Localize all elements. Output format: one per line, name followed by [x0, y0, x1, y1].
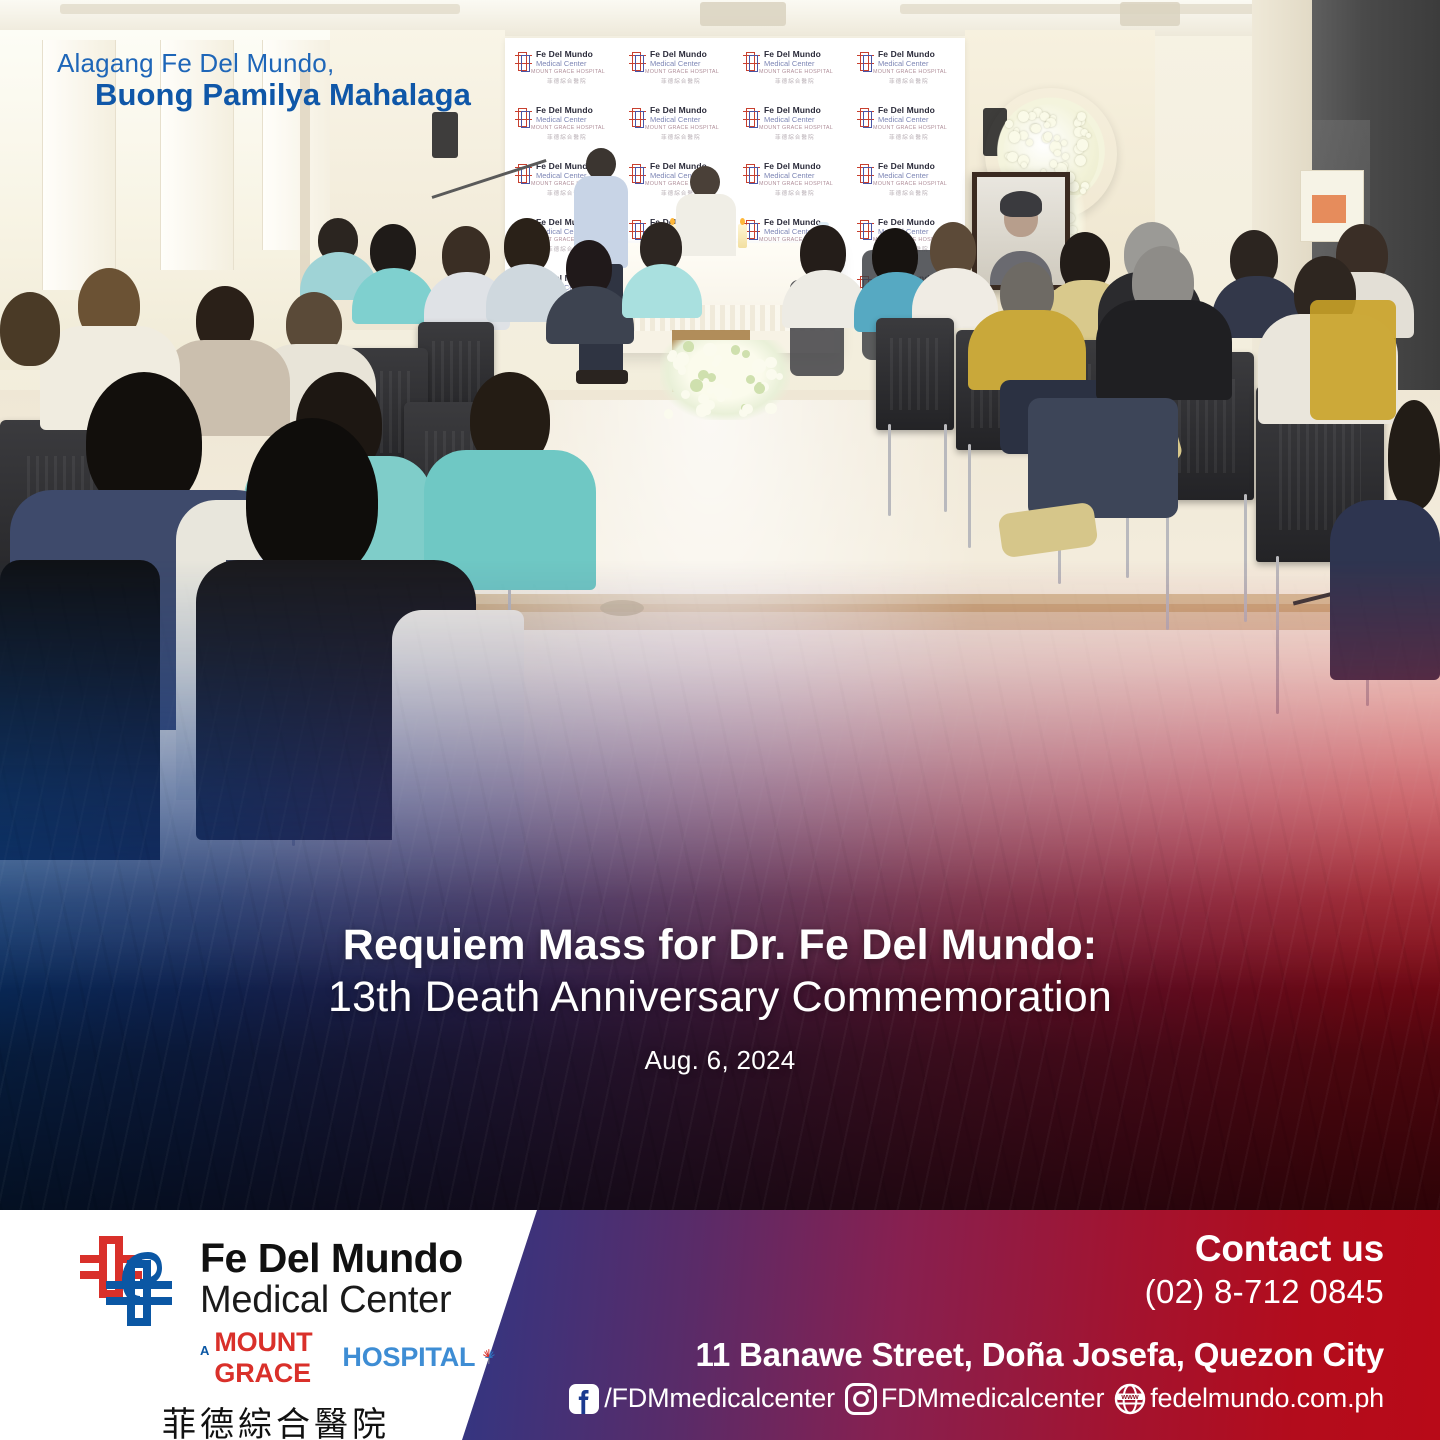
wreath-blossom — [1044, 132, 1053, 141]
backdrop-logo-tile: Fe Del Mundo Medical Center MOUNT GRACE … — [627, 102, 731, 160]
backdrop-name: Fe Del Mundo — [878, 49, 935, 59]
backdrop-logo-tile: Fe Del Mundo Medical Center MOUNT GRACE … — [741, 102, 845, 160]
altar-blossom — [765, 403, 777, 415]
backdrop-chinese: 菲德綜合醫院 — [547, 133, 587, 141]
backdrop-sub: Medical Center — [878, 115, 928, 124]
backdrop-chinese: 菲德綜合醫院 — [889, 189, 929, 197]
backdrop-mountgrace: MOUNT GRACE HOSPITAL — [759, 69, 833, 75]
chair-leg — [888, 424, 891, 516]
mount-grace-tree-icon — [480, 1341, 498, 1371]
social-links: /FDMmedicalcenter FDMmedicalcenter — [624, 1382, 1384, 1416]
contact-address: 11 Banawe Street, Doña Josefa, Quezon Ci… — [624, 1336, 1384, 1374]
backdrop-chinese: 菲德綜合醫院 — [661, 77, 701, 85]
double-cross-leaf-icon — [78, 1234, 186, 1339]
altar-blossom — [674, 358, 681, 365]
globe-www-icon[interactable]: www — [1113, 1382, 1147, 1416]
altar-blossom — [664, 409, 674, 419]
wall-speaker — [432, 112, 458, 158]
backdrop-chinese: 菲德綜合醫院 — [775, 77, 815, 85]
handbag — [1310, 300, 1396, 420]
svg-text:www: www — [1121, 1392, 1139, 1401]
ceiling-vent — [700, 2, 786, 26]
social-facebook[interactable]: /FDMmedicalcenter — [567, 1382, 835, 1416]
backdrop-cross-icon — [857, 220, 874, 237]
tagline-line1: Alagang Fe Del Mundo, — [57, 50, 471, 76]
instagram-handle[interactable]: FDMmedicalcenter — [881, 1383, 1104, 1414]
backdrop-cross-icon — [743, 164, 760, 181]
logo-name-line2: Medical Center — [200, 1281, 498, 1321]
wreath-blossom — [1061, 140, 1067, 146]
audience-head-foreground — [246, 418, 378, 582]
backdrop-cross-icon — [629, 108, 646, 125]
backdrop-sub: Medical Center — [536, 115, 586, 124]
backdrop-cross-icon — [857, 52, 874, 69]
wreath-blossom — [1021, 162, 1028, 169]
audience-head-foreground — [1388, 400, 1440, 510]
backdrop-cross-icon — [515, 52, 532, 69]
backdrop-name: Fe Del Mundo — [878, 105, 935, 115]
event-date: Aug. 6, 2024 — [0, 1045, 1440, 1076]
backdrop-logo-tile: Fe Del Mundo Medical Center MOUNT GRACE … — [855, 46, 959, 104]
footer: Fe Del Mundo Medical Center A MOUNT GRAC… — [0, 1210, 1440, 1440]
backdrop-name: Fe Del Mundo — [536, 49, 593, 59]
wreath-blossom — [1075, 155, 1086, 166]
altar-blossom — [683, 341, 694, 352]
backdrop-name: Fe Del Mundo — [878, 217, 935, 227]
backdrop-logo-tile: Fe Del Mundo Medical Center MOUNT GRACE … — [855, 158, 959, 216]
audience-head — [0, 292, 60, 366]
backdrop-name: Fe Del Mundo — [650, 105, 707, 115]
backdrop-sub: Medical Center — [650, 59, 700, 68]
backdrop-mountgrace: MOUNT GRACE HOSPITAL — [645, 125, 719, 131]
backdrop-sub: Medical Center — [764, 171, 814, 180]
logo-chinese: 菲德綜合醫院 — [162, 1397, 498, 1440]
officiant-right — [676, 166, 736, 256]
backdrop-sub: Medical Center — [878, 171, 928, 180]
backdrop-chinese: 菲德綜合醫院 — [889, 133, 929, 141]
backdrop-cross-icon — [515, 108, 532, 125]
backdrop-mountgrace: MOUNT GRACE HOSPITAL — [531, 69, 605, 75]
altar-blossom — [703, 378, 709, 384]
website-handle[interactable]: fedelmundo.com.ph — [1150, 1383, 1384, 1414]
wreath-blossom — [1028, 112, 1036, 120]
wreath-blossom — [1044, 122, 1050, 128]
event-title-line1: Requiem Mass for Dr. Fe Del Mundo: — [0, 920, 1440, 971]
altar-blossom — [742, 350, 751, 359]
wreath-blossom — [1054, 150, 1060, 156]
backdrop-chinese: 菲德綜合醫院 — [547, 77, 587, 85]
facebook-icon[interactable] — [567, 1382, 601, 1416]
event-title-line2: 13th Death Anniversary Commemoration — [0, 971, 1440, 1023]
hospital-logo: Fe Del Mundo Medical Center A MOUNT GRAC… — [78, 1232, 498, 1440]
backdrop-mountgrace: MOUNT GRACE HOSPITAL — [531, 125, 605, 131]
altar-blossom — [696, 404, 709, 417]
altar-blossom — [746, 375, 755, 384]
backdrop-mountgrace: MOUNT GRACE HOSPITAL — [873, 125, 947, 131]
wreath-blossom — [1031, 124, 1040, 133]
backdrop-sub: Medical Center — [650, 115, 700, 124]
altar-blossom — [681, 390, 690, 399]
logo-hospital: HOSPITAL — [342, 1342, 475, 1373]
altar-blossom — [703, 343, 717, 357]
altar-blossom — [713, 384, 726, 397]
wreath-blossom — [1077, 139, 1089, 151]
social-instagram[interactable]: FDMmedicalcenter — [844, 1382, 1104, 1416]
facebook-handle[interactable]: /FDMmedicalcenter — [604, 1383, 835, 1414]
backdrop-logo-tile: Fe Del Mundo Medical Center MOUNT GRACE … — [627, 46, 731, 104]
contact-phone[interactable]: (02) 8-712 0845 — [624, 1273, 1384, 1311]
chair-leg — [968, 444, 971, 548]
backdrop-chinese: 菲德綜合醫院 — [775, 133, 815, 141]
audience-shoulders — [968, 310, 1086, 390]
backdrop-name: Fe Del Mundo — [650, 49, 707, 59]
chair-leg — [944, 424, 947, 512]
backdrop-cross-icon — [857, 164, 874, 181]
wreath-blossom — [1007, 152, 1018, 163]
backdrop-logo-tile: Fe Del Mundo Medical Center MOUNT GRACE … — [513, 46, 617, 104]
wreath-blossom — [1054, 135, 1060, 141]
backdrop-name: Fe Del Mundo — [536, 105, 593, 115]
backdrop-cross-icon — [857, 108, 874, 125]
backdrop-chinese: 菲德綜合醫院 — [889, 77, 929, 85]
backdrop-name: Fe Del Mundo — [878, 161, 935, 171]
wreath-blossom — [1080, 188, 1086, 194]
altar-blossom — [752, 359, 765, 372]
leaf-e-icon — [118, 1248, 162, 1308]
backdrop-chinese: 菲德綜合醫院 — [775, 189, 815, 197]
backdrop-cross-icon — [629, 164, 646, 181]
backdrop-cross-icon — [743, 108, 760, 125]
logo-a: A — [200, 1343, 209, 1358]
backdrop-cross-icon — [743, 52, 760, 69]
backdrop-sub: Medical Center — [878, 59, 928, 68]
contact-block: Contact us (02) 8-712 0845 11 Banawe Str… — [624, 1230, 1384, 1416]
backdrop-logo-tile: Fe Del Mundo Medical Center MOUNT GRACE … — [741, 158, 845, 216]
backdrop-mountgrace: MOUNT GRACE HOSPITAL — [873, 181, 947, 187]
ceiling-strip — [60, 4, 460, 14]
candle — [738, 224, 747, 248]
backdrop-sub: Medical Center — [764, 59, 814, 68]
wreath-blossom — [1062, 153, 1069, 160]
backdrop-mountgrace: MOUNT GRACE HOSPITAL — [873, 69, 947, 75]
ceiling-vent — [1120, 2, 1180, 26]
altar-blossom — [765, 357, 777, 369]
wreath-blossom — [1086, 133, 1092, 139]
backdrop-logo-tile: Fe Del Mundo Medical Center MOUNT GRACE … — [855, 102, 959, 160]
tagline-line2: Buong Pamilya Mahalaga — [95, 79, 471, 110]
backdrop-sub: Medical Center — [536, 59, 586, 68]
wreath-blossom — [1009, 131, 1020, 142]
altar-blossom — [742, 404, 753, 415]
wreath-blossom — [1005, 120, 1013, 128]
backdrop-sub: Medical Center — [764, 115, 814, 124]
altar-blossom — [712, 360, 719, 367]
instagram-icon[interactable] — [844, 1382, 878, 1416]
chair — [876, 318, 954, 430]
backdrop-cross-icon — [629, 52, 646, 69]
altar-blossom — [754, 383, 765, 394]
contact-title: Contact us — [624, 1230, 1384, 1269]
backdrop-mountgrace: MOUNT GRACE HOSPITAL — [759, 181, 833, 187]
altar-blossom — [776, 373, 783, 380]
altar-blossom — [678, 366, 686, 374]
altar-blossom — [731, 345, 741, 355]
wreath-blossom — [1026, 139, 1033, 146]
backdrop-name: Fe Del Mundo — [764, 161, 821, 171]
logo-name-line1: Fe Del Mundo — [200, 1238, 498, 1279]
backdrop-name: Fe Del Mundo — [764, 49, 821, 59]
backdrop-mountgrace: MOUNT GRACE HOSPITAL — [759, 125, 833, 131]
tagline: Alagang Fe Del Mundo, Buong Pamilya Maha… — [57, 50, 471, 110]
backdrop-chinese: 菲德綜合醫院 — [661, 133, 701, 141]
logo-mount-grace: MOUNT GRACE — [214, 1327, 333, 1389]
backdrop-name: Fe Del Mundo — [764, 217, 821, 227]
title-block: Requiem Mass for Dr. Fe Del Mundo: 13th … — [0, 920, 1440, 1076]
altar-blossom — [690, 379, 703, 392]
audience-legs — [1028, 398, 1178, 518]
audience-shoulders — [1096, 300, 1232, 400]
social-website[interactable]: www fedelmundo.com.ph — [1113, 1382, 1384, 1416]
wreath-blossom — [1018, 111, 1029, 122]
backdrop-logo-tile: Fe Del Mundo Medical Center MOUNT GRACE … — [741, 46, 845, 104]
backdrop-name: Fe Del Mundo — [764, 105, 821, 115]
wall-poster-graphic — [1312, 195, 1346, 223]
brand-gradient-overlay — [0, 560, 1440, 1210]
poster-canvas: Fe Del Mundo Medical Center MOUNT GRACE … — [0, 0, 1440, 1440]
altar-flower-arrangement — [660, 340, 790, 420]
backdrop-mountgrace: MOUNT GRACE HOSPITAL — [645, 69, 719, 75]
